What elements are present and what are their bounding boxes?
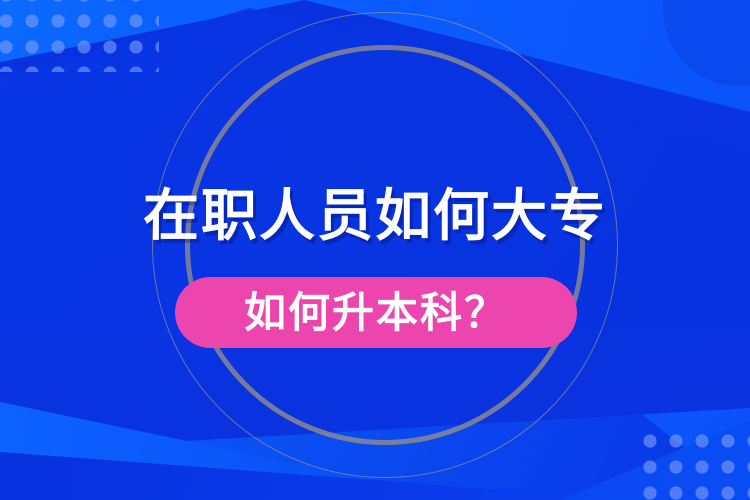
- dot-grid-icon-bottom-right: [637, 428, 750, 500]
- promo-banner: 在职人员如何大专 如何升本科？: [0, 0, 750, 500]
- dot-grid-icon-top-left: [0, 0, 159, 72]
- banner-title: 在职人员如何大专: [0, 186, 750, 246]
- subtitle-pill: 如何升本科？: [175, 277, 577, 348]
- banner-subtitle: 如何升本科？: [244, 290, 508, 336]
